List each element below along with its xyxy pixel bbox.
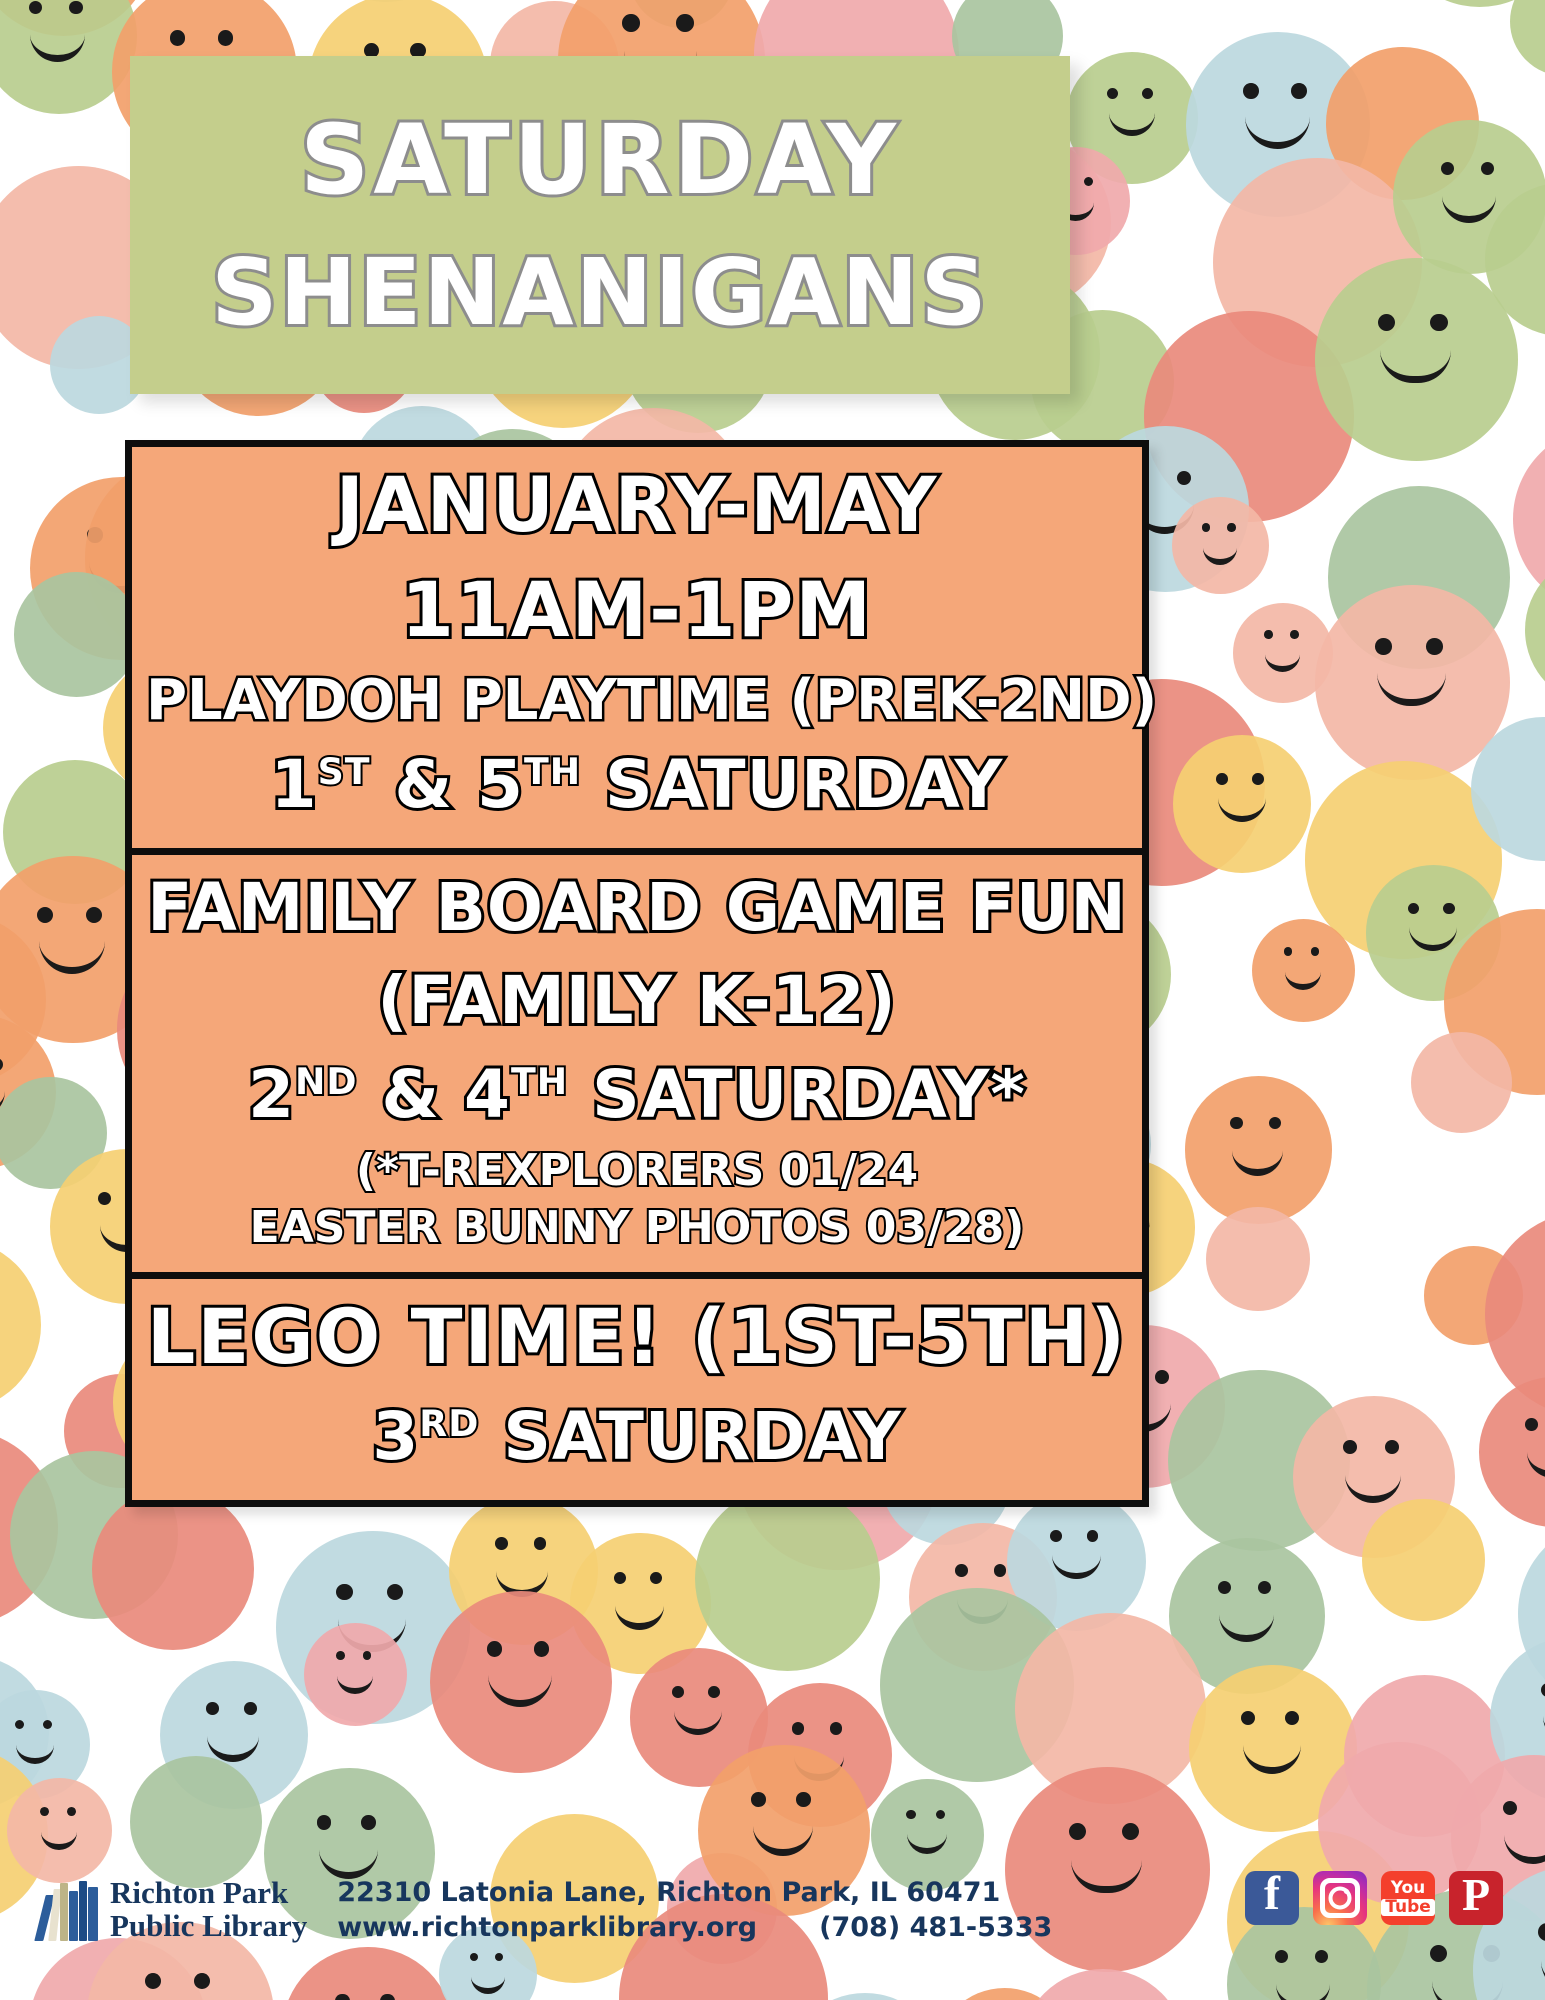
- smiley-face-icon: [132, 1973, 229, 2000]
- smiley-eye: [1050, 1530, 1062, 1542]
- website-url[interactable]: www.richtonparklibrary.org: [337, 1910, 757, 1945]
- social-links: f You Tube P: [1245, 1871, 1503, 1925]
- smiley-eye: [1227, 523, 1235, 531]
- board-game-note-line-1: (*T-REXPLORERS 01/24: [146, 1142, 1128, 1199]
- smiley-eye: [1441, 162, 1454, 175]
- smiley-eye: [244, 1702, 257, 1715]
- logo-book-4: [69, 1891, 78, 1941]
- smiley-eye: [495, 1537, 508, 1550]
- smiley-mouth: [1218, 798, 1266, 822]
- smiley-eye: [1408, 903, 1420, 915]
- smiley-eye: [1084, 177, 1093, 186]
- background-blob: [1020, 1969, 1186, 2000]
- smiley-face-icon: [1207, 1581, 1288, 1655]
- smiley-eye: [1177, 471, 1191, 485]
- smiley-face-icon: [18, 1, 99, 75]
- smiley-eye: [796, 1792, 811, 1807]
- smiley-eye: [317, 1815, 332, 1830]
- smiley-eye: [1503, 1801, 1517, 1815]
- smiley-eye: [1375, 638, 1392, 655]
- smiley-face-icon: [1257, 630, 1309, 677]
- smiley-eye: [1378, 314, 1395, 331]
- smiley-eye: [955, 1564, 968, 1577]
- smiley-eye: [1291, 83, 1307, 99]
- playdoh-ord1-number: 1: [271, 746, 318, 823]
- logo-book-3: [60, 1883, 68, 1941]
- smiley-eye: [40, 1807, 49, 1816]
- program-box: JANUARY-MAY 11AM-1PM PLAYDOH PLAYTIME (P…: [125, 440, 1149, 1507]
- smiley-eye: [1481, 162, 1494, 175]
- smiley-eye: [218, 30, 234, 46]
- background-blob: [1510, 0, 1545, 76]
- smiley-eye: [194, 1973, 210, 1989]
- smiley-eye: [1218, 1581, 1231, 1594]
- logo-book-5: [79, 1881, 87, 1941]
- program-section-schedule-overview: JANUARY-MAY 11AM-1PM PLAYDOH PLAYTIME (P…: [132, 447, 1142, 848]
- instagram-icon[interactable]: [1313, 1871, 1367, 1925]
- background-blob: [92, 1488, 254, 1650]
- playdoh-ord2-suffix: TH: [524, 750, 581, 793]
- smiley-face-icon: [1229, 1711, 1316, 1791]
- smiley-eye: [380, 1994, 395, 2000]
- smiley-eye: [830, 1722, 842, 1734]
- playdoh-day: SATURDAY: [581, 746, 1003, 823]
- smiley-eye: [387, 1584, 403, 1600]
- smiley-eye: [1252, 773, 1264, 785]
- program-section-family-board-game-fun: FAMILY BOARD GAME FUN (FAMILY K-12) 2ND …: [132, 848, 1142, 1273]
- smiley-mouth: [488, 1674, 552, 1707]
- board-game-schedule: 2ND & 4TH SATURDAY*: [146, 1048, 1128, 1142]
- smiley-eye: [15, 1720, 24, 1729]
- smiley-face-icon: [24, 907, 122, 996]
- smiley-mouth: [674, 1711, 722, 1735]
- smiley-face-icon: [0, 1483, 10, 1577]
- background-blob: [0, 1239, 41, 1411]
- background-blob: [1206, 1207, 1310, 1311]
- smiley-eye: [676, 14, 694, 32]
- smiley-mouth: [907, 1830, 946, 1854]
- smiley-face-icon: [1206, 773, 1278, 839]
- smiley-mouth: [1219, 1609, 1274, 1642]
- lego-time-title: LEGO TIME! (1ST-5TH): [146, 1285, 1128, 1390]
- smiley-eye: [1107, 88, 1118, 99]
- title-line-2: SHENANIGANS: [211, 228, 989, 359]
- smiley-eye: [672, 1686, 684, 1698]
- smiley-eye: [29, 1, 42, 14]
- smiley-eye: [1087, 1530, 1099, 1542]
- instagram-dot: [1344, 1889, 1349, 1894]
- smiley-eye: [622, 14, 640, 32]
- smiley-mouth: [207, 1729, 259, 1762]
- smiley-face-icon: [1276, 947, 1330, 996]
- phone-number[interactable]: (708) 481-5333: [819, 1910, 1052, 1945]
- board-game-title: FAMILY BOARD GAME FUN: [146, 861, 1128, 955]
- library-logo-icon: [40, 1879, 102, 1941]
- smiley-face-icon: [7, 1720, 64, 1772]
- smiley-face-icon: [604, 1572, 677, 1639]
- smiley-mouth: [753, 1823, 813, 1856]
- smiley-mouth: [337, 1670, 373, 1694]
- smiley-face-icon: [1041, 1530, 1113, 1596]
- title-banner: SATURDAY SHENANIGANS: [130, 56, 1070, 394]
- library-logo-text: Richton Park Public Library: [110, 1877, 307, 1943]
- smiley-mouth: [1541, 1961, 1545, 1994]
- instagram-frame: [1320, 1878, 1360, 1918]
- background-blob: [14, 572, 139, 697]
- smiley-eye: [98, 1192, 111, 1205]
- smiley-face-icon: [1515, 1418, 1545, 1489]
- background-blob: [1411, 1032, 1512, 1133]
- smiley-face-icon: [1098, 88, 1167, 151]
- youtube-you-text: You: [1391, 1880, 1426, 1898]
- board-conjunction: & 4: [358, 1056, 511, 1133]
- smiley-eye: [67, 1807, 76, 1816]
- smiley-mouth: [30, 29, 85, 62]
- playdoh-conjunction: & 5: [371, 746, 524, 823]
- smiley-eye: [1269, 1117, 1282, 1130]
- smiley-eye: [69, 1, 82, 14]
- contact-info: 22310 Latonia Lane, Richton Park, IL 604…: [337, 1875, 1052, 1945]
- background-white-gutter: [118, 0, 119, 2000]
- smiley-eye: [1343, 1440, 1357, 1454]
- board-ord1-suffix: ND: [295, 1060, 358, 1103]
- smiley-face-icon: [1220, 1117, 1297, 1187]
- board-ord2-suffix: TH: [511, 1060, 568, 1103]
- smiley-mouth: [41, 1826, 78, 1850]
- smiley-eye: [708, 1686, 720, 1698]
- library-name-line-1: Richton Park: [110, 1877, 307, 1910]
- smiley-face-icon: [1363, 314, 1469, 410]
- smiley-mouth: [1052, 1555, 1101, 1579]
- lego-time-schedule: 3RD SATURDAY: [146, 1390, 1128, 1484]
- playdoh-playtime-schedule: 1ST & 5TH SATURDAY: [146, 738, 1128, 832]
- smiley-mouth: [1442, 190, 1496, 223]
- smiley-mouth: [39, 941, 105, 974]
- smiley-eye: [1069, 1823, 1086, 1840]
- smiley-eye: [1443, 903, 1455, 915]
- smiley-eye: [534, 1537, 547, 1550]
- smiley-eye: [1426, 638, 1443, 655]
- smiley-eye: [1216, 773, 1228, 785]
- title-line-1: SATURDAY: [300, 92, 900, 228]
- smiley-eye: [1311, 947, 1320, 956]
- smiley-face-icon: [663, 1686, 735, 1752]
- smiley-eye: [1385, 1440, 1399, 1454]
- smiley-eye: [650, 1572, 662, 1584]
- smiley-mouth: [16, 1740, 54, 1764]
- facebook-icon[interactable]: f: [1245, 1871, 1299, 1925]
- smiley-eye: [1541, 1683, 1545, 1697]
- smiley-eye: [86, 907, 102, 923]
- background-blob: [1362, 1499, 1484, 1621]
- smiley-face-icon: [1362, 638, 1464, 731]
- smiley-mouth: [1243, 1741, 1302, 1774]
- smiley-eye: [1155, 1370, 1169, 1384]
- street-address: 22310 Latonia Lane, Richton Park, IL 604…: [337, 1875, 1052, 1910]
- smiley-eye: [145, 1973, 161, 1989]
- smiley-mouth: [1377, 673, 1445, 706]
- board-game-audience: (FAMILY K-12): [146, 954, 1128, 1048]
- smiley-mouth: [615, 1597, 664, 1630]
- smiley-mouth: [471, 1970, 505, 1994]
- lego-ord-suffix: RD: [419, 1402, 479, 1445]
- smiley-mouth: [1232, 1143, 1284, 1176]
- smiley-eye: [363, 1651, 372, 1660]
- lego-day: SATURDAY: [479, 1398, 901, 1475]
- smiley-eye: [1230, 1117, 1243, 1130]
- smiley-eye: [1243, 83, 1259, 99]
- smiley-eye: [336, 1584, 352, 1600]
- smiley-eye: [1202, 523, 1210, 531]
- playdoh-playtime-title: PLAYDOH PLAYTIME (PREK-2ND): [146, 663, 1128, 738]
- smiley-eye: [37, 907, 53, 923]
- smiley-mouth: [1380, 350, 1451, 383]
- smiley-eye: [206, 1702, 219, 1715]
- youtube-icon[interactable]: You Tube: [1381, 1871, 1435, 1925]
- smiley-face-icon: [1195, 523, 1246, 569]
- smiley-eye: [1284, 947, 1293, 956]
- smiley-mouth: [1527, 1445, 1545, 1478]
- smiley-eye: [906, 1810, 916, 1820]
- smiley-eye: [336, 1651, 345, 1660]
- smiley-mouth: [1345, 1470, 1402, 1503]
- smiley-eye: [0, 1058, 3, 1071]
- pinterest-icon[interactable]: P: [1449, 1871, 1503, 1925]
- smiley-eye: [1525, 1418, 1538, 1431]
- smiley-eye: [487, 1641, 502, 1656]
- logo-book-6: [88, 1887, 98, 1941]
- smiley-mouth: [1409, 927, 1456, 951]
- smiley-eye: [1122, 1823, 1139, 1840]
- footer: Richton Park Public Library 22310 Latoni…: [0, 1855, 1545, 1965]
- smiley-eye: [534, 1641, 549, 1656]
- smiley-eye: [1241, 1711, 1255, 1725]
- smiley-eye: [936, 1810, 946, 1820]
- smiley-eye: [1285, 1711, 1299, 1725]
- smiley-eye: [335, 1994, 350, 2000]
- board-day: SATURDAY*: [568, 1056, 1026, 1133]
- smiley-eye: [792, 1722, 804, 1734]
- playdoh-ord1-suffix: ST: [318, 750, 371, 793]
- smiley-eye: [1290, 630, 1298, 638]
- youtube-tube-text: Tube: [1381, 1899, 1435, 1917]
- smiley-face-icon: [1529, 1683, 1545, 1762]
- program-section-lego-time: LEGO TIME! (1ST-5TH) 3RD SATURDAY: [132, 1272, 1142, 1500]
- smiley-eye: [1430, 314, 1447, 331]
- lego-ord-number: 3: [372, 1398, 419, 1475]
- time-range: 11AM-1PM: [146, 558, 1128, 663]
- background-blob: [695, 1486, 880, 1671]
- smiley-face-icon: [329, 1651, 383, 1700]
- library-name-line-2: Public Library: [110, 1910, 307, 1943]
- smiley-eye: [361, 1815, 376, 1830]
- smiley-eye: [614, 1572, 626, 1584]
- smiley-mouth: [1109, 112, 1155, 136]
- board-ord1-number: 2: [248, 1056, 295, 1133]
- smiley-mouth: [1203, 541, 1237, 565]
- smiley-face-icon: [32, 1807, 87, 1857]
- smiley-mouth: [1276, 1978, 1330, 2000]
- months-range: JANUARY-MAY: [146, 453, 1128, 558]
- smiley-eye: [1258, 1581, 1271, 1594]
- smiley-eye: [1264, 630, 1272, 638]
- smiley-eye: [994, 1564, 1007, 1577]
- smiley-eye: [751, 1792, 766, 1807]
- smiley-face-icon: [323, 1994, 412, 2000]
- smiley-eye: [170, 30, 186, 46]
- smiley-eye: [1142, 88, 1153, 99]
- smiley-mouth: [1265, 648, 1300, 672]
- smiley-mouth: [1245, 116, 1310, 149]
- smiley-mouth: [1285, 966, 1321, 990]
- smiley-eye: [43, 1720, 52, 1729]
- board-game-note-line-2: EASTER BUNNY PHOTOS 03/28): [146, 1199, 1128, 1256]
- smiley-face-icon: [474, 1641, 569, 1727]
